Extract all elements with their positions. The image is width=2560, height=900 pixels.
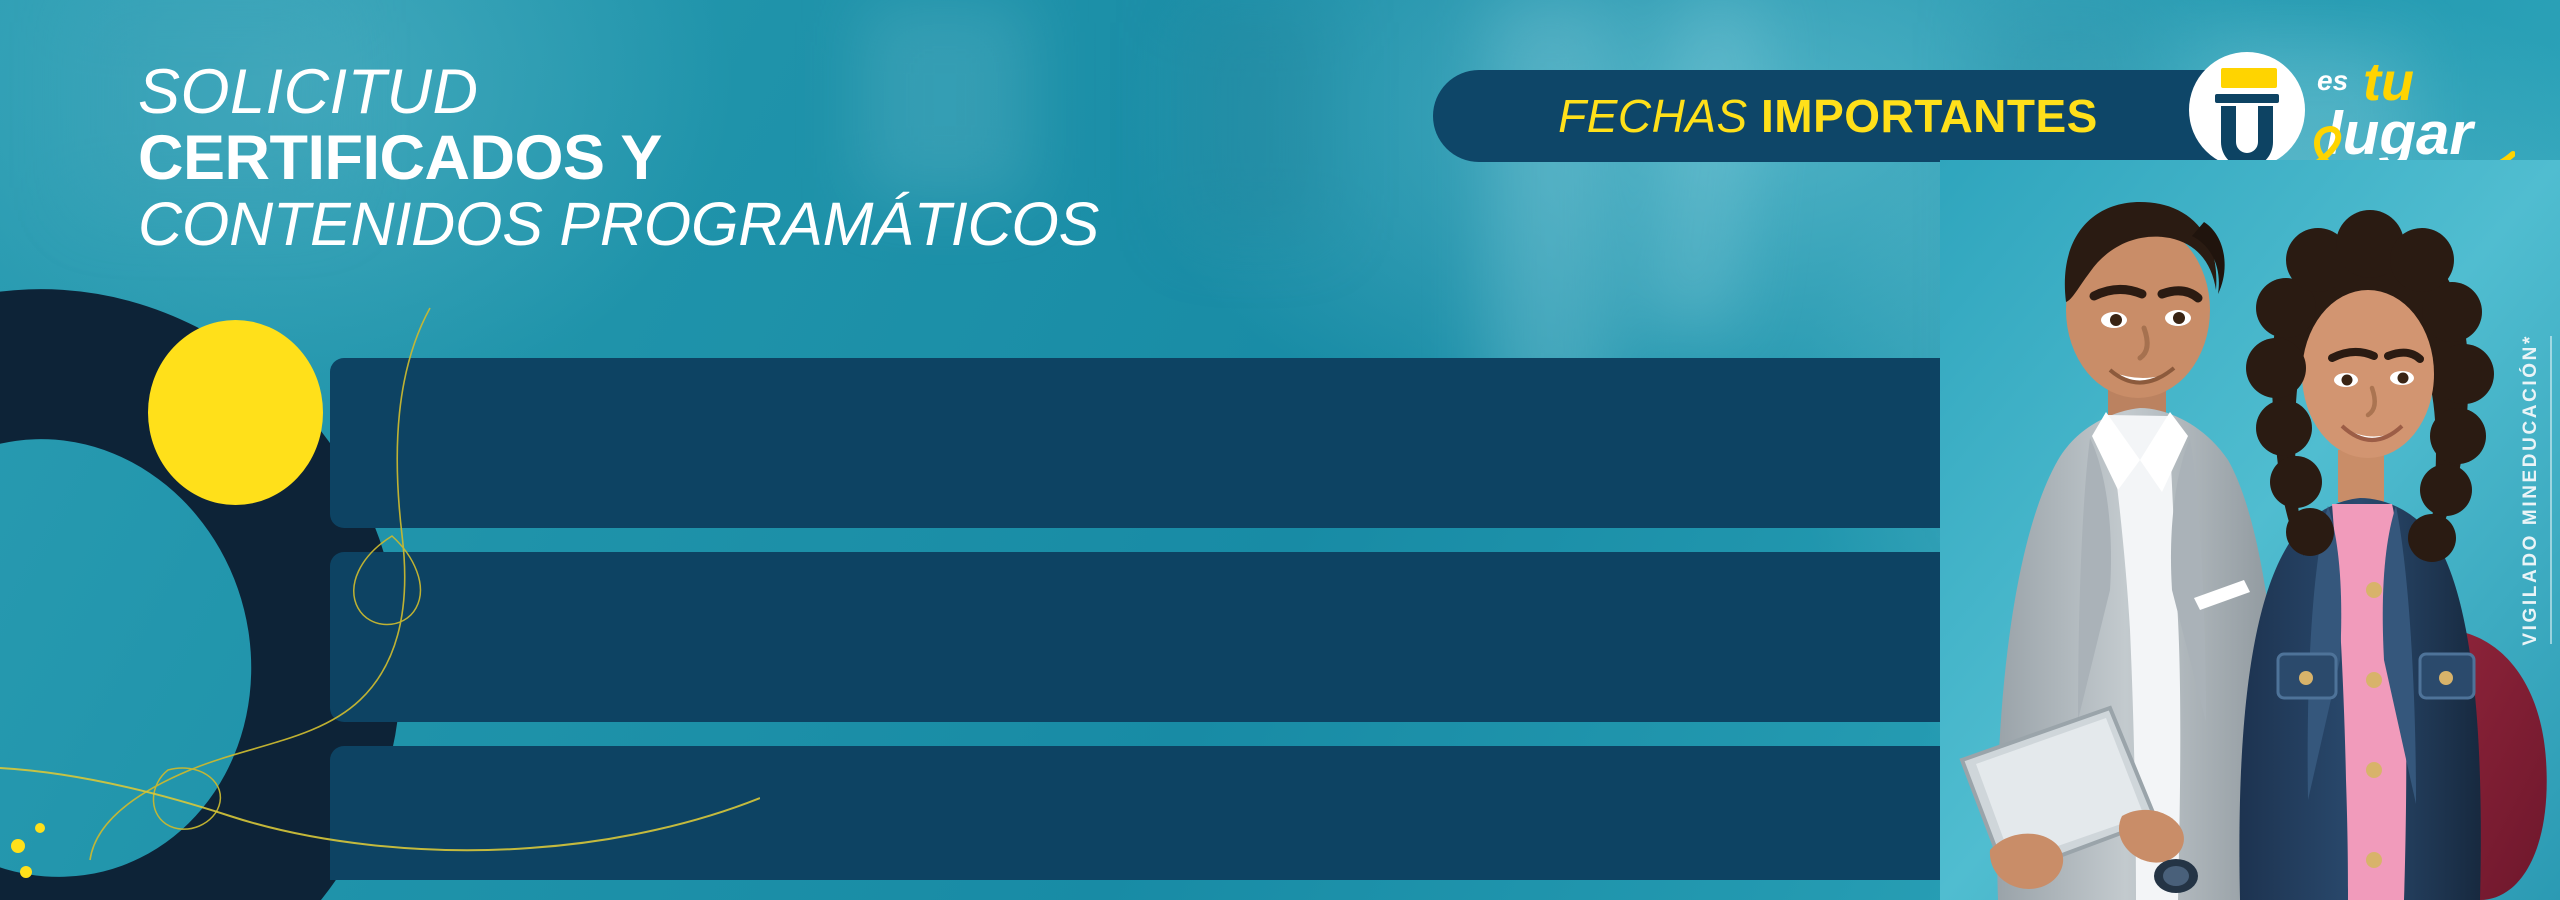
logo-tagline-es: es xyxy=(2317,65,2348,96)
important-dates-word-bold: IMPORTANTES xyxy=(1761,90,2098,142)
legal-vertical-divider xyxy=(2550,336,2552,644)
row-panel-duplicados xyxy=(330,746,1995,880)
row-panel-certificados xyxy=(330,358,1995,528)
title-line-3: CONTENIDOS PROGRAMÁTICOS xyxy=(138,193,1099,256)
legal-vertical-label: VIGILADO MINEDUCACIÓN* xyxy=(2520,334,2542,646)
title-line-2: CERTIFICADOS Y xyxy=(138,126,1099,190)
logo-yellow-bar-icon xyxy=(2221,68,2277,88)
students-photo xyxy=(1940,160,2560,900)
important-dates-label: FECHAS IMPORTANTES xyxy=(1558,89,2098,143)
row-panel-contenidos xyxy=(330,552,1995,722)
title-line-1: SOLICITUD xyxy=(138,60,1099,124)
decorative-yellow-circle xyxy=(148,320,323,505)
logo-tagline-lugar: lugar xyxy=(2326,100,2476,167)
important-dates-badge: FECHAS IMPORTANTES xyxy=(1433,70,2223,162)
page-title: SOLICITUD CERTIFICADOS Y CONTENIDOS PROG… xyxy=(138,60,1099,256)
legal-vertical-text: VIGILADO MINEDUCACIÓN* xyxy=(2520,330,2542,650)
important-dates-word-italic: FECHAS xyxy=(1558,90,1748,142)
